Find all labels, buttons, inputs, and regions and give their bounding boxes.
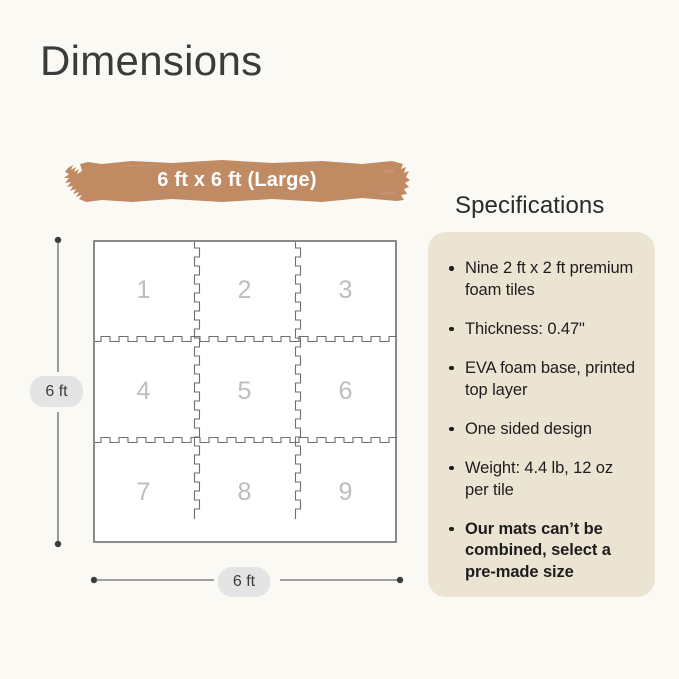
bullet-icon (449, 466, 454, 471)
mat-grid-diagram: 1 2 3 4 5 6 7 8 9 (93, 240, 397, 543)
bullet-icon (449, 366, 454, 371)
height-dimension-label: 6 ft (30, 376, 83, 407)
bullet-icon (449, 527, 454, 532)
mat-grid-svg (93, 240, 397, 543)
spec-item-text: EVA foam base, printed top layer (465, 359, 635, 399)
bullet-icon (449, 427, 454, 432)
spec-item: Thickness: 0.47" (448, 319, 637, 341)
bullet-icon (449, 327, 454, 332)
spec-item: EVA foam base, printed top layer (448, 358, 637, 402)
spec-item-text: Weight: 4.4 lb, 12 oz per tile (465, 459, 613, 499)
spec-item: Weight: 4.4 lb, 12 oz per tile (448, 458, 637, 502)
spec-item: One sided design (448, 419, 637, 441)
spec-item-text: Thickness: 0.47" (465, 320, 585, 338)
page-title: Dimensions (40, 38, 262, 84)
specifications-panel: Nine 2 ft x 2 ft premium foam tiles Thic… (428, 232, 655, 597)
dimensions-infographic: Dimensions 6 ft x 6 ft (Large) (0, 0, 679, 679)
spec-item: Our mats can’t be combined, select a pre… (448, 519, 637, 585)
spec-item-text: Our mats can’t be combined, select a pre… (465, 520, 611, 582)
specifications-list: Nine 2 ft x 2 ft premium foam tiles Thic… (448, 258, 637, 584)
size-banner: 6 ft x 6 ft (Large) (62, 156, 412, 206)
width-dimension-label: 6 ft (218, 567, 270, 597)
specifications-heading: Specifications (455, 192, 604, 220)
size-banner-label: 6 ft x 6 ft (Large) (62, 156, 412, 206)
spec-item-text: One sided design (465, 420, 592, 438)
spec-item-text: Nine 2 ft x 2 ft premium foam tiles (465, 259, 633, 299)
spec-item: Nine 2 ft x 2 ft premium foam tiles (448, 258, 637, 302)
bullet-icon (449, 266, 454, 271)
